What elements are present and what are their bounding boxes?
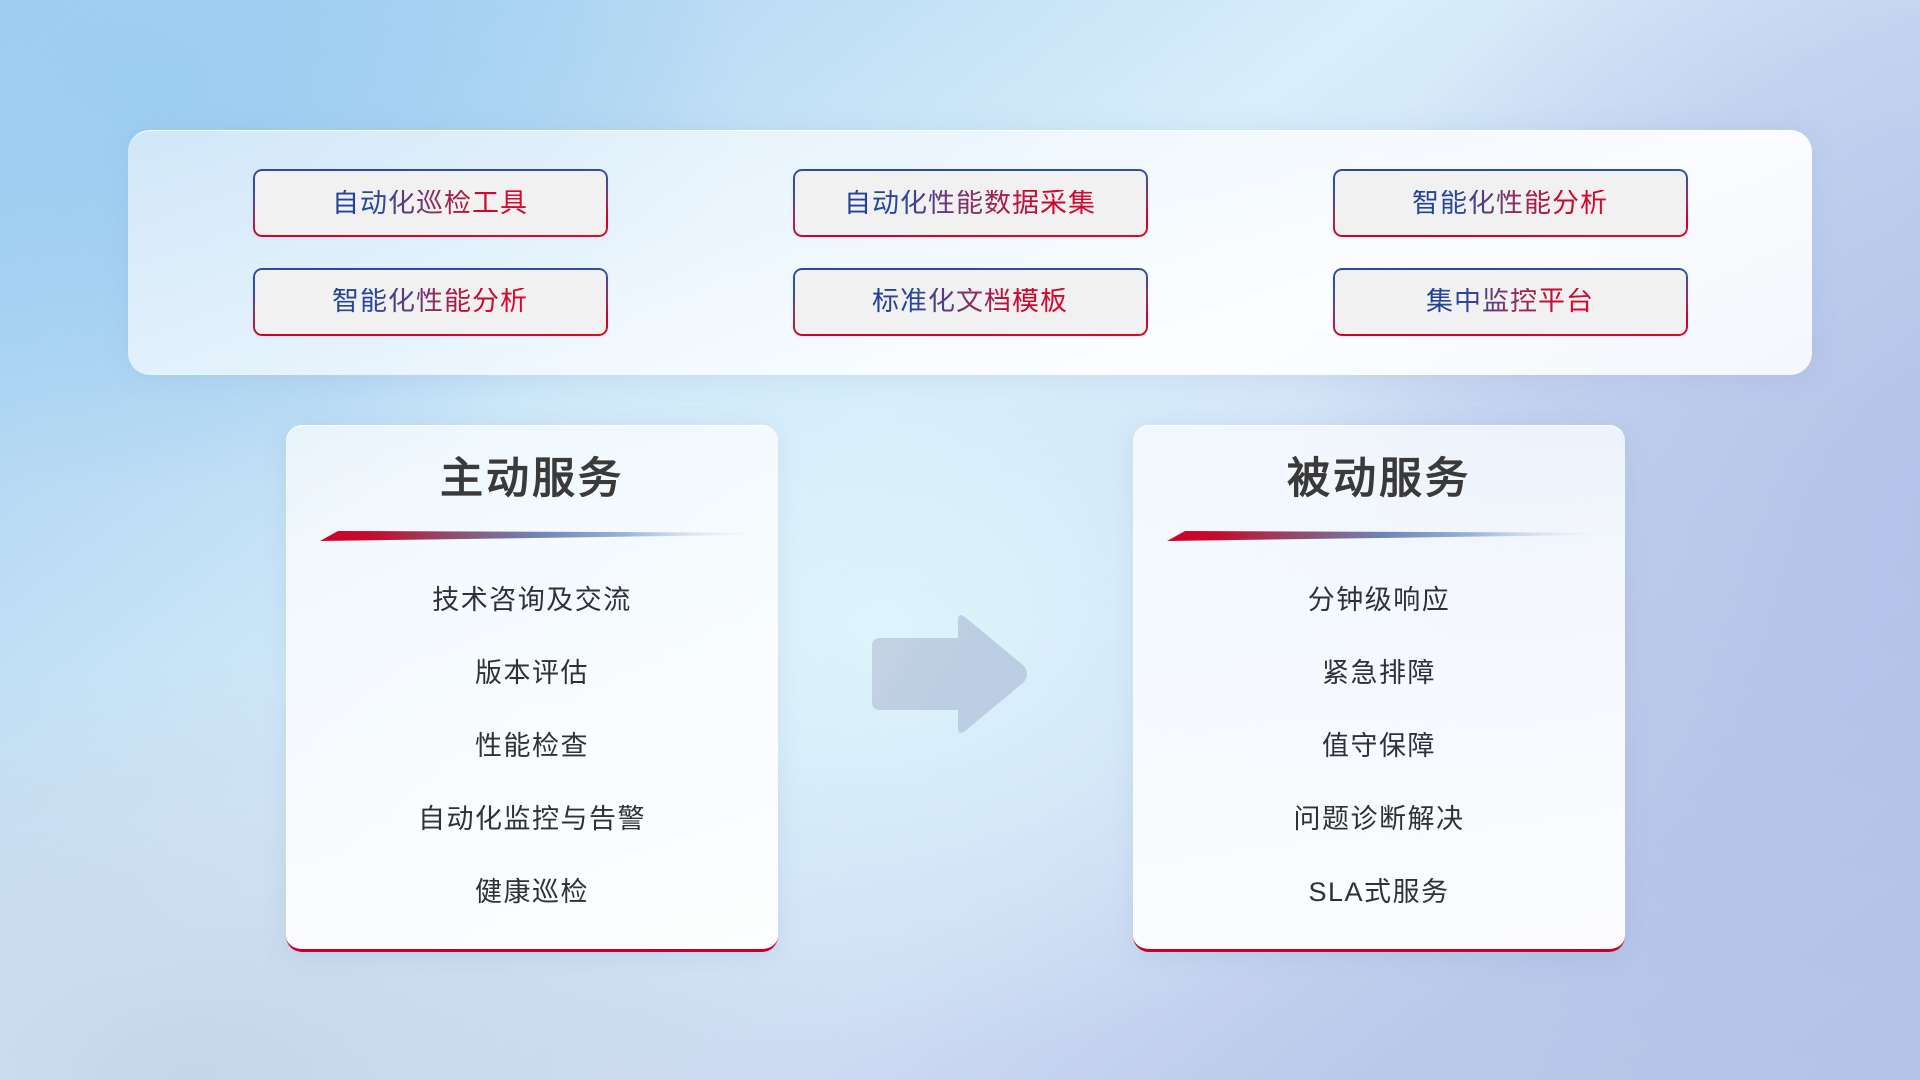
capability-panel: 自动化巡检工具 自动化性能数据采集 智能化性能分析 智能化性能分析 标准化文档模… [128,130,1812,375]
card-list-item[interactable]: 健康巡检 [475,865,589,920]
service-card-passive: 被动服务 分钟级响应 紧急排障 值守保障 [1133,425,1625,952]
slide-canvas: 自动化巡检工具 自动化性能数据采集 智能化性能分析 智能化性能分析 标准化文档模… [0,0,1920,1080]
capability-pill[interactable]: 自动化性能数据采集 [793,169,1148,237]
card-list-item[interactable]: 问题诊断解决 [1294,792,1465,847]
capability-pill[interactable]: 集中监控平台 [1333,268,1688,336]
card-title: 被动服务 [1287,453,1471,507]
capability-pill-label: 集中监控平台 [1426,288,1594,315]
card-title: 主动服务 [440,453,624,507]
capability-pill-label: 标准化文档模板 [872,288,1068,315]
card-divider [1167,527,1591,543]
capability-pill[interactable]: 智能化性能分析 [1333,169,1688,237]
capability-pill[interactable]: 标准化文档模板 [793,268,1148,336]
capability-pill-label: 智能化性能分析 [1412,190,1608,217]
right-arrow-icon [866,612,1030,736]
card-list-item[interactable]: 性能检查 [475,719,589,774]
capability-pill-label: 自动化巡检工具 [332,190,528,217]
card-divider [320,527,744,543]
card-list-item[interactable]: 技术咨询及交流 [432,573,632,628]
card-list-item[interactable]: 分钟级响应 [1308,573,1451,628]
card-list-item[interactable]: 自动化监控与告警 [418,792,646,847]
card-list-item[interactable]: 紧急排障 [1322,646,1436,701]
capability-pill[interactable]: 智能化性能分析 [253,268,608,336]
capability-pill-label: 自动化性能数据采集 [844,190,1096,217]
service-card-active: 主动服务 技术咨询及交流 版本评估 性能检查 [286,425,778,952]
card-list-item[interactable]: 版本评估 [475,646,589,701]
card-list-item[interactable]: SLA式服务 [1308,865,1449,920]
card-item-list: 分钟级响应 紧急排障 值守保障 问题诊断解决 SLA式服务 [1133,573,1625,920]
capability-pill-label: 智能化性能分析 [332,288,528,315]
capability-pill[interactable]: 自动化巡检工具 [253,169,608,237]
card-item-list: 技术咨询及交流 版本评估 性能检查 自动化监控与告警 健康巡检 [286,573,778,920]
card-list-item[interactable]: 值守保障 [1322,719,1436,774]
